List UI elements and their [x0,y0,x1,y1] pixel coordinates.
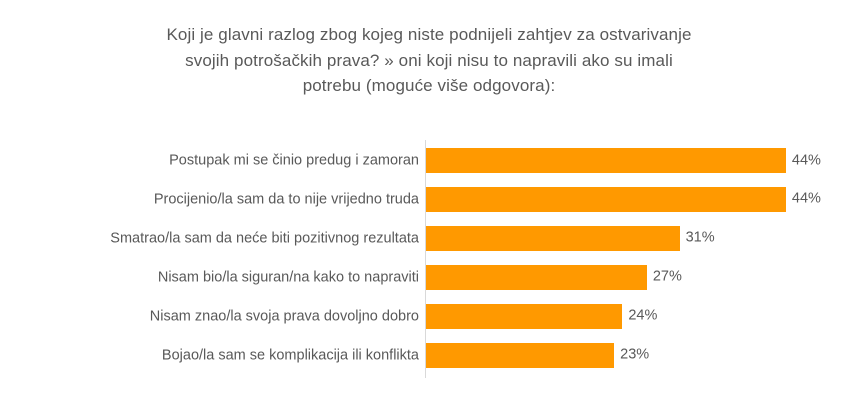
bar-segment[interactable] [426,304,622,329]
bar-category-label: Procijenio/la sam da to nije vrijedno tr… [154,191,419,208]
bar-value-label: 27% [647,269,682,286]
chart-title: Koji je glavni razlog zbog kojeg niste p… [90,22,768,99]
bar-value-label: 44% [786,191,821,208]
bar-category-label: Postupak mi se činio predug i zamoran [169,153,419,170]
bar-chart: Koji je glavni razlog zbog kojeg niste p… [0,0,858,409]
bar-segment[interactable] [426,343,614,368]
bar-category-label: Bojao/la sam se komplikacija ili konflik… [162,347,419,364]
bar-row: Postupak mi se činio predug i zamoran44% [0,142,858,181]
bar-category-label: Smatrao/la sam da neće biti pozitivnog r… [110,230,419,247]
bar-row: Bojao/la sam se komplikacija ili konflik… [0,336,858,375]
bar-row: Procijenio/la sam da to nije vrijedno tr… [0,180,858,219]
bar-segment[interactable] [426,148,786,173]
bar-segment[interactable] [426,265,647,290]
bar-value-label: 24% [622,308,657,325]
bar-row: Smatrao/la sam da neće biti pozitivnog r… [0,219,858,258]
bar-segment[interactable] [426,226,680,251]
bar-segment[interactable] [426,187,786,212]
bar-row: Nisam znao/la svoja prava dovoljno dobro… [0,297,858,336]
bars-layer: Postupak mi se činio predug i zamoran44%… [0,140,858,378]
bar-value-label: 44% [786,152,821,169]
plot-area: Postupak mi se činio predug i zamoran44%… [0,140,858,378]
bar-category-label: Nisam bio/la siguran/na kako to napravit… [158,269,419,286]
bar-row: Nisam bio/la siguran/na kako to napravit… [0,258,858,297]
bar-value-label: 31% [680,230,715,247]
bar-category-label: Nisam znao/la svoja prava dovoljno dobro [150,308,419,325]
bar-value-label: 23% [614,347,649,364]
